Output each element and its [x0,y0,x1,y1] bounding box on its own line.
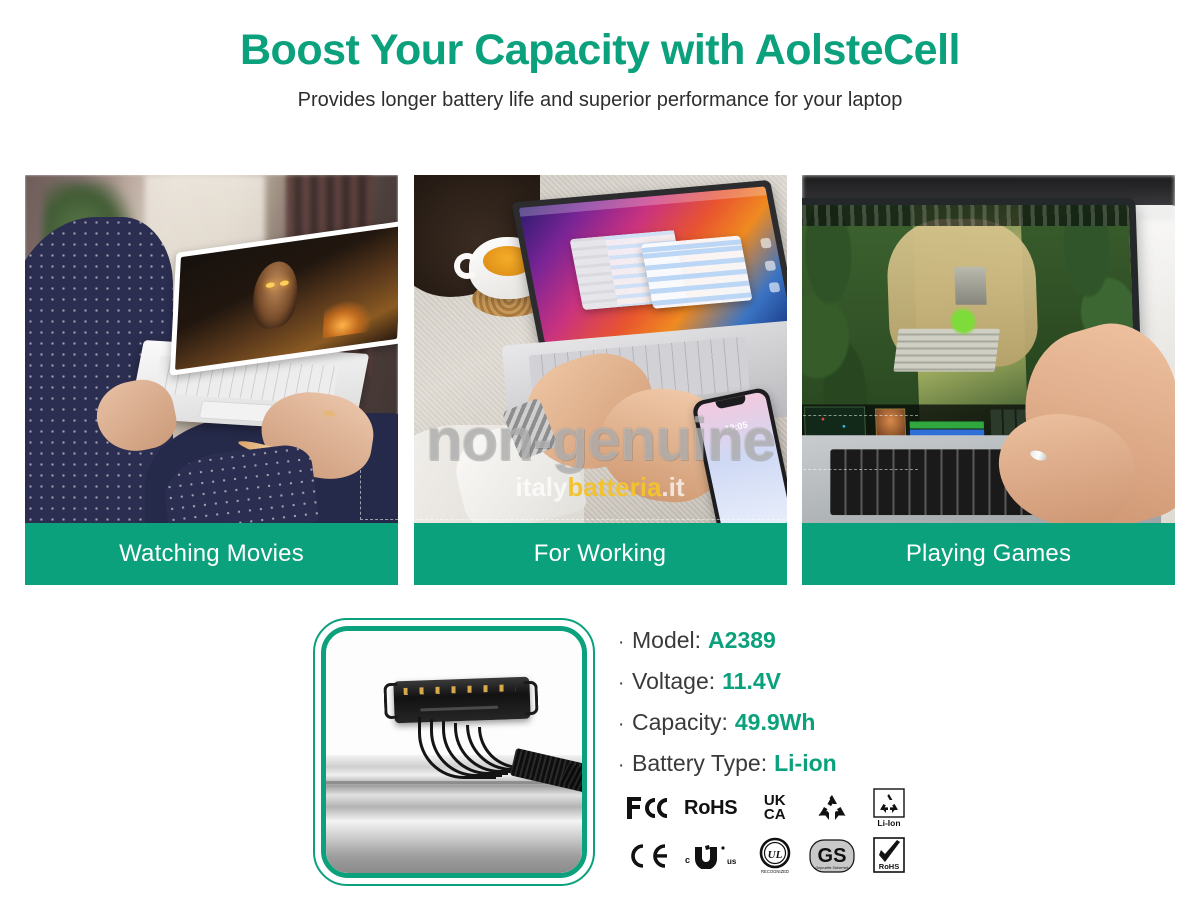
photo-watching-movies [25,175,398,523]
spec-label-capacity: Capacity: [632,710,728,735]
movie-character-face [252,258,299,331]
panel-for-working: 12:05 For Working [414,175,787,585]
macos-desktop [518,186,786,343]
app-window-2 [640,235,751,309]
svg-text:c: c [685,855,690,865]
dock-icon [764,260,776,271]
connector-slot [420,706,498,712]
caption-watching-movies: Watching Movies [25,523,398,585]
svg-text:RoHS: RoHS [879,862,899,871]
dock-icon [768,282,780,293]
spec-row-battery-type: · Battery Type: Li-ion [618,751,1038,777]
svg-text:UL: UL [767,849,782,861]
product-image-frame [313,618,595,886]
product-section: · Model: A2389 · Voltage: 11.4V · Capaci… [0,612,1200,900]
panel-watching-movies: Watching Movies [25,175,398,585]
game-minimap [804,407,866,438]
svg-text:Li-Ion: Li-Ion [878,818,901,828]
rohs-text-icon: RoHS [675,785,746,831]
photo-for-working: 12:05 [414,175,787,523]
product-image-inner-border [321,626,587,878]
finger-ring [322,410,336,418]
page-title: Boost Your Capacity with AolsteCell [0,26,1200,75]
game-hud-top [802,205,1129,226]
spec-list: · Model: A2389 · Voltage: 11.4V · Capaci… [618,628,1038,792]
connector-gold-pins [404,684,516,695]
bullet-icon: · [618,715,632,736]
game-tower [955,267,987,305]
phone-clock: 12:05 [700,415,771,439]
svg-text:Gepruefte Sicherheit: Gepruefte Sicherheit [816,866,849,870]
recycle-icon [803,785,860,831]
game-hero-highlight [949,307,977,335]
spec-value-model: A2389 [708,628,776,653]
movie-firelight [323,297,373,338]
caption-playing-games: Playing Games [802,523,1175,585]
game-stone-steps [894,328,1001,371]
certification-row-2: c us UL RECOGNIZED [618,832,918,880]
ukca-icon: UKCA [746,785,803,831]
page-subtitle: Provides longer battery life and superio… [0,89,1200,112]
connector-clip-right [523,681,538,715]
glowing-eye-left [266,282,275,288]
game-health-bar [909,421,984,428]
spec-label-model: Model: [632,628,701,653]
spec-row-model: · Model: A2389 [618,628,1038,654]
promo-page: Boost Your Capacity with AolsteCell Prov… [0,0,1200,900]
li-ion-recycle-icon: Li-Ion [861,785,918,831]
spec-value-battery-type: Li-ion [774,751,837,776]
spec-value-capacity: 49.9Wh [735,710,816,735]
connector-clip-left [383,683,398,719]
dock-icon [760,238,772,249]
bullet-icon: · [618,633,632,654]
spec-row-capacity: · Capacity: 49.9Wh [618,710,1038,736]
panel-playing-games: Playing Games [802,175,1175,585]
bullet-icon: · [618,674,632,695]
fcc-icon [618,785,675,831]
cup-handle [454,253,480,279]
certification-row-1: RoHS UKCA [618,784,918,832]
phone-notch [715,395,747,409]
bullet-icon: · [618,756,632,777]
glowing-eye-right [280,280,289,286]
spec-value-voltage: 11.4V [722,669,781,694]
use-case-panels: Watching Movies [25,175,1175,585]
certification-badges: RoHS UKCA [618,784,918,880]
game-hero-portrait [875,408,907,439]
product-photo [326,631,582,873]
spec-row-voltage: · Voltage: 11.4V [618,669,1038,695]
caption-for-working: For Working [414,523,787,585]
gs-icon: GS Gepruefte Sicherheit [803,833,860,879]
svg-text:RECOGNIZED: RECOGNIZED [761,869,789,874]
photo-playing-games [802,175,1175,523]
ce-icon [618,833,675,879]
ul-circle-icon: UL RECOGNIZED [746,833,803,879]
rohs-check-icon: RoHS [861,833,918,879]
spec-label-battery-type: Battery Type: [632,751,767,776]
svg-text:us: us [727,857,737,866]
c-ul-us-icon: c us [675,833,746,879]
spec-label-voltage: Voltage: [632,669,715,694]
header: Boost Your Capacity with AolsteCell Prov… [0,0,1200,112]
svg-text:GS: GS [818,845,847,867]
